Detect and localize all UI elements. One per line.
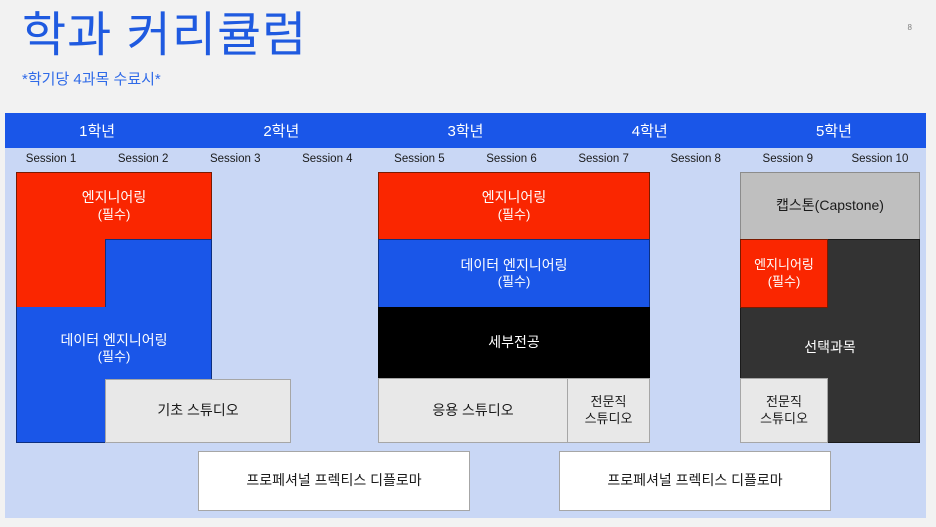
session-cell-8: Session 8 — [650, 148, 742, 169]
block-label-line2: 스튜디오 — [760, 411, 808, 427]
session-cell-10: Session 10 — [834, 148, 926, 169]
block-label-line2: (필수) — [498, 274, 531, 290]
block-engineering-required-year3: 엔지니어링 (필수) — [378, 172, 650, 240]
block-label-line1: 전문직 — [766, 394, 802, 410]
block-label-line1: 기초 스튜디오 — [157, 402, 238, 420]
block-label-line1: 프로페셔널 프렉티스 디플로마 — [246, 472, 421, 490]
block-studio-professional-year5: 전문직 스튜디오 — [740, 378, 828, 443]
session-cell-1: Session 1 — [5, 148, 97, 169]
block-diploma-left: 프로페셔널 프렉티스 디플로마 — [198, 451, 470, 511]
block-engineering-required-year5: 엔지니어링 (필수) — [740, 239, 828, 308]
title-block: 학과 커리큘럼 *학기당 4과목 수료시* — [22, 6, 307, 89]
block-data-engineering-required-year3: 데이터 엔지니어링 (필수) — [378, 239, 650, 308]
block-label-line2: (필수) — [98, 207, 131, 223]
block-studio-applied: 응용 스튜디오 — [378, 378, 568, 443]
block-label-line1: 캡스톤(Capstone) — [776, 197, 884, 215]
session-header-row: Session 1 Session 2 Session 3 Session 4 … — [5, 148, 926, 169]
slide-canvas: 8 학과 커리큘럼 *학기당 4과목 수료시* 1학년 2학년 3학년 4학년 … — [0, 0, 936, 527]
block-engineering-required-year1-extension — [16, 239, 106, 308]
year-header-row: 1학년 2학년 3학년 4학년 5학년 — [5, 113, 926, 148]
block-label-line1: 선택과목 — [804, 339, 856, 357]
block-data-engineering-required-year1 — [105, 239, 212, 308]
page-title: 학과 커리큘럼 — [22, 6, 307, 66]
session-cell-4: Session 4 — [281, 148, 373, 169]
session-cell-7: Session 7 — [558, 148, 650, 169]
block-engineering-required-year1: 엔지니어링 (필수) — [16, 172, 212, 240]
block-label-line1: 전문직 — [591, 394, 627, 410]
block-label-line1: 엔지니어링 — [754, 257, 814, 273]
block-capstone: 캡스톤(Capstone) — [740, 172, 920, 240]
session-cell-5: Session 5 — [373, 148, 465, 169]
year-cell-1: 1학년 — [5, 113, 189, 148]
year-cell-2: 2학년 — [189, 113, 373, 148]
block-label-line1: 엔지니어링 — [482, 189, 546, 207]
page-subtitle: *학기당 4과목 수료시* — [22, 68, 307, 89]
block-label-line1: 데이터 엔지니어링 — [461, 257, 568, 275]
block-label-line1: 세부전공 — [488, 334, 540, 352]
block-label-line1: 응용 스튜디오 — [432, 402, 513, 420]
block-label-line2: 스튜디오 — [585, 411, 633, 427]
block-label-line2: (필수) — [768, 274, 801, 290]
block-label-line1: 엔지니어링 — [82, 189, 146, 207]
session-cell-9: Session 9 — [742, 148, 834, 169]
session-cell-6: Session 6 — [465, 148, 557, 169]
year-cell-3: 3학년 — [373, 113, 557, 148]
session-cell-3: Session 3 — [189, 148, 281, 169]
year-cell-5: 5학년 — [742, 113, 926, 148]
year-cell-4: 4학년 — [558, 113, 742, 148]
block-studio-professional-year4: 전문직 스튜디오 — [567, 378, 650, 443]
block-label-line2: (필수) — [61, 349, 168, 365]
block-diploma-right: 프로페셔널 프렉티스 디플로마 — [559, 451, 831, 511]
block-studio-basic: 기초 스튜디오 — [105, 379, 291, 443]
session-cell-2: Session 2 — [97, 148, 189, 169]
block-major-track: 세부전공 — [378, 307, 650, 379]
block-label-line1: 데이터 엔지니어링 — [61, 332, 168, 350]
page-number: 8 — [908, 24, 912, 32]
block-label-line1: 프로페셔널 프렉티스 디플로마 — [607, 472, 782, 490]
block-label-line2: (필수) — [498, 207, 531, 223]
